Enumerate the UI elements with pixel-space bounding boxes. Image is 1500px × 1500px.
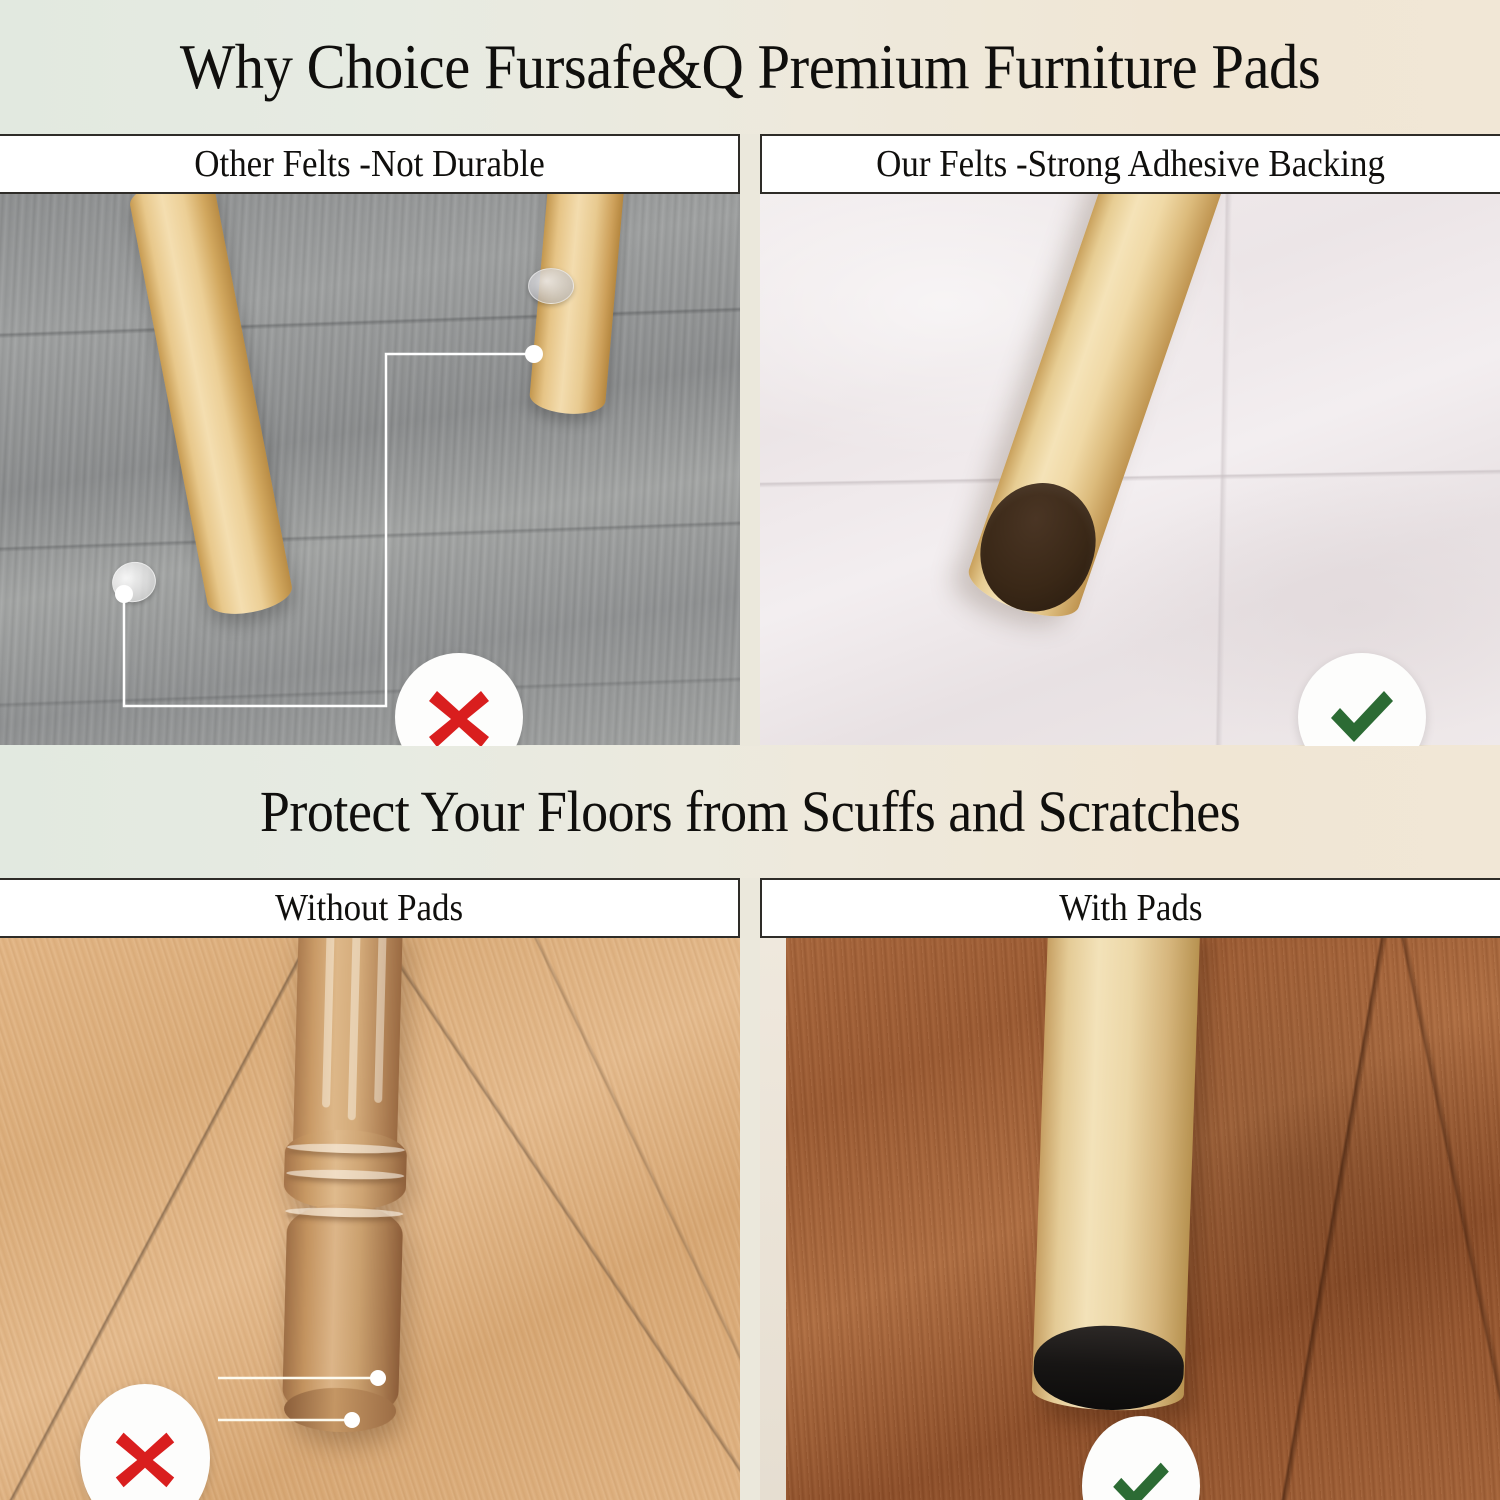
- turned-wooden-leg: [255, 938, 433, 1450]
- label-our-felts: Our Felts -Strong Adhesive Backing: [877, 142, 1386, 186]
- top-banner: Why Choice Fursafe&Q Premium Furniture P…: [0, 0, 1500, 134]
- photo-with-pads: [760, 938, 1500, 1500]
- peeling-pad-back-icon: [528, 268, 574, 304]
- cross-icon: [108, 1421, 182, 1495]
- cross-icon: [421, 679, 497, 746]
- label-bar-with-pads: With Pads: [760, 878, 1500, 938]
- middle-banner: Protect Your Floors from Scuffs and Scra…: [0, 745, 1500, 878]
- check-icon: [1323, 678, 1401, 746]
- label-bar-other-felts: Other Felts -Not Durable: [0, 134, 740, 194]
- middle-banner-title: Protect Your Floors from Scuffs and Scra…: [260, 783, 1240, 841]
- panel-other-felts: Other Felts -Not Durable: [0, 134, 740, 746]
- label-bar-our-felts: Our Felts -Strong Adhesive Backing: [760, 134, 1500, 194]
- label-other-felts: Other Felts -Not Durable: [194, 142, 544, 186]
- panel-gap-top: [740, 134, 760, 746]
- photo-our-felts: [760, 194, 1500, 746]
- photo-other-felts: [0, 194, 740, 746]
- black-felt-pad: [1032, 1323, 1185, 1412]
- check-icon: [1106, 1451, 1176, 1500]
- infographic-page: Why Choice Fursafe&Q Premium Furniture P…: [0, 0, 1500, 1500]
- panel-our-felts: Our Felts -Strong Adhesive Backing: [760, 134, 1500, 746]
- floor-left-edge: [760, 938, 786, 1500]
- panel-without-pads: Without Pads: [0, 878, 740, 1500]
- photo-without-pads: [0, 938, 740, 1500]
- leg-shaft: [293, 938, 403, 1159]
- panel-gap-bottom: [740, 878, 760, 1500]
- panel-with-pads: With Pads: [760, 878, 1500, 1500]
- gray-plank-floor: [0, 194, 740, 746]
- top-banner-title: Why Choice Fursafe&Q Premium Furniture P…: [180, 36, 1320, 99]
- label-with-pads: With Pads: [1059, 886, 1202, 930]
- label-without-pads: Without Pads: [275, 886, 463, 930]
- beech-leg-vertical: [1031, 938, 1200, 1413]
- label-bar-without-pads: Without Pads: [0, 878, 740, 938]
